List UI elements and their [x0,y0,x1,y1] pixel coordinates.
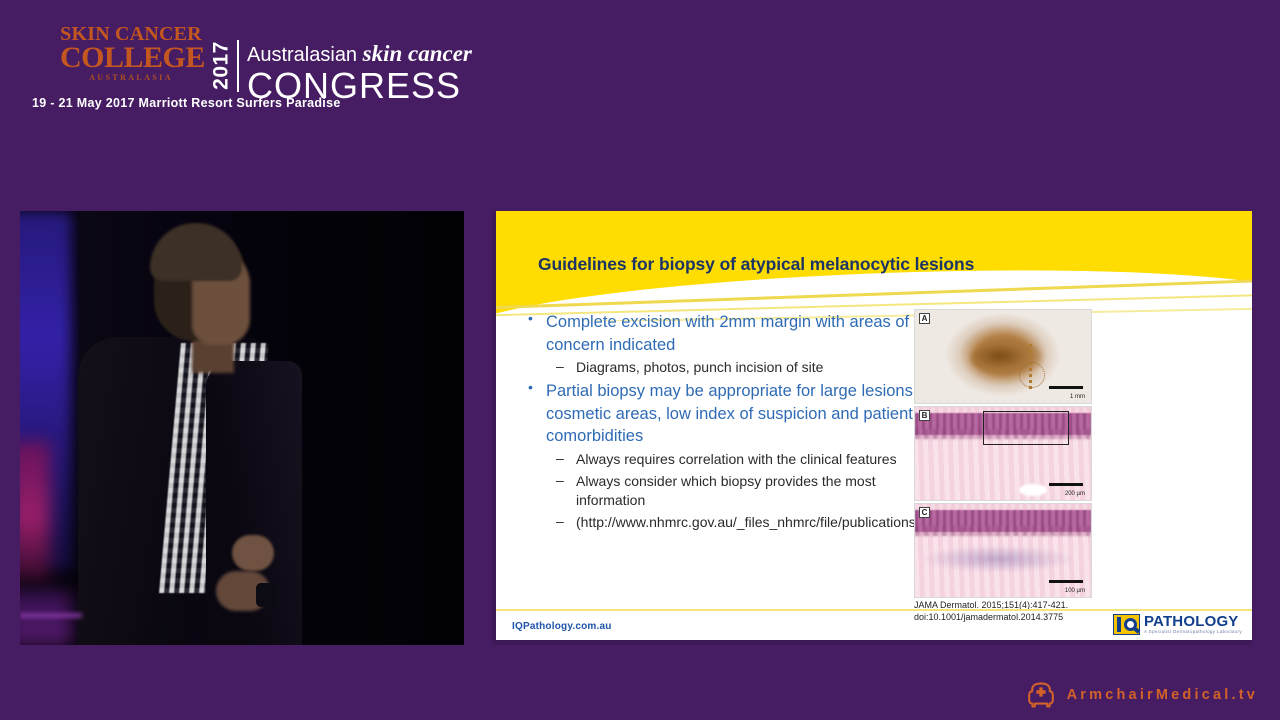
event-dateline: 19 - 21 May 2017 Marriott Resort Surfers… [32,96,341,110]
iq-wordmark: PATHOLOGY A Specialist Dermatopathology … [1144,614,1242,635]
junction-layer [915,526,1091,536]
sub-bullet-text: Always requires correlation with the cli… [576,450,918,469]
bullet-text: Partial biopsy may be appropriate for la… [546,380,918,448]
sub-bullet-text: (http://www.nhmrc.gov.au/_files_nhmrc/fi… [576,513,918,532]
stage-light-purple [20,591,72,645]
scale-bar-label: 1 mm [1070,394,1085,400]
header-divider [237,40,239,92]
inflammatory-infiltrate [923,546,1073,572]
figure-histology-high: C 100 µm [914,503,1092,598]
slide-title: Guidelines for biopsy of atypical melano… [538,254,974,275]
citation-line2: doi:10.1001/jamadermatol.2014.3775 [914,611,1068,623]
congress-line1-prefix: Australasian [247,44,363,66]
sub-bullet-item: Always requires correlation with the cli… [518,450,918,469]
bullet-item: Partial biopsy may be appropriate for la… [518,380,918,448]
armchair-medical-wordmark: ArmchairMedical.tv [1067,687,1258,703]
presentation-clicker [256,583,276,607]
iq-monogram-icon [1113,614,1140,635]
congress-line1: Australasian skin cancer [247,42,472,67]
congress-year-label: 2017 [211,38,232,94]
slide-footer-rule [496,609,1252,611]
congress-line1-italic: skin cancer [363,41,472,66]
figure-label: B [919,410,930,421]
figure-label: A [919,313,930,324]
biopsy-punch-ring [1019,362,1045,388]
iq-tagline: A Specialist Dermatopathology Laboratory [1144,630,1242,635]
skin-cancer-college-logo: SKIN CANCER COLLEGE AUSTRALASIA [60,24,202,84]
iq-name: PATHOLOGY [1144,614,1242,629]
scale-bar [1049,580,1083,583]
speaker-video-panel [20,211,464,645]
slide-body: Complete excision with 2mm margin with a… [518,311,918,535]
figure-label: C [919,507,930,518]
sub-bullet-item: Always consider which biopsy provides th… [518,472,918,510]
slide-footer-url: IQPathology.com.au [512,621,612,632]
tissue-cleft [1019,484,1047,496]
bullet-text: Complete excision with 2mm margin with a… [546,311,918,356]
sub-bullet-text: Diagrams, photos, punch incision of site [576,358,918,377]
presentation-slide: Guidelines for biopsy of atypical melano… [492,211,1252,645]
figure-citation: JAMA Dermatol. 2015;151(4):417-421. doi:… [914,599,1068,623]
armchair-cross-icon [1027,682,1055,708]
iq-pathology-logo: PATHOLOGY A Specialist Dermatopathology … [1113,612,1242,636]
stage-floor-light [20,613,82,618]
sub-bullet-item: (http://www.nhmrc.gov.au/_files_nhmrc/fi… [518,513,918,532]
congress-year: 2017 [208,36,234,92]
scale-bar [1049,386,1083,389]
stage-light-magenta [20,441,50,581]
scale-bar-label: 200 µm [1065,491,1085,497]
speaker-hand-upper [232,535,274,571]
figure-histology-low: B 200 µm [914,406,1092,501]
scale-bar [1049,483,1083,486]
sub-bullet-item: Diagrams, photos, punch incision of site [518,358,918,377]
screen: SKIN CANCER COLLEGE AUSTRALASIA 2017 Aus… [0,0,1280,720]
slide-figure-panel: A 1 mm B 200 µm C 100 µm [914,309,1224,600]
letter-i [1117,617,1121,632]
slide-bottom-edge [492,640,1252,645]
letter-q-tail [1133,626,1141,633]
region-of-interest-box [983,411,1069,445]
sub-bullet-text: Always consider which biopsy provides th… [576,472,918,510]
college-line2: COLLEGE [60,44,202,72]
armchair-medical-brand: ArmchairMedical.tv [1027,682,1258,708]
bullet-item: Complete excision with 2mm margin with a… [518,311,918,356]
scale-bar-label: 100 µm [1065,588,1085,594]
figure-dermoscopy: A 1 mm [914,309,1092,404]
